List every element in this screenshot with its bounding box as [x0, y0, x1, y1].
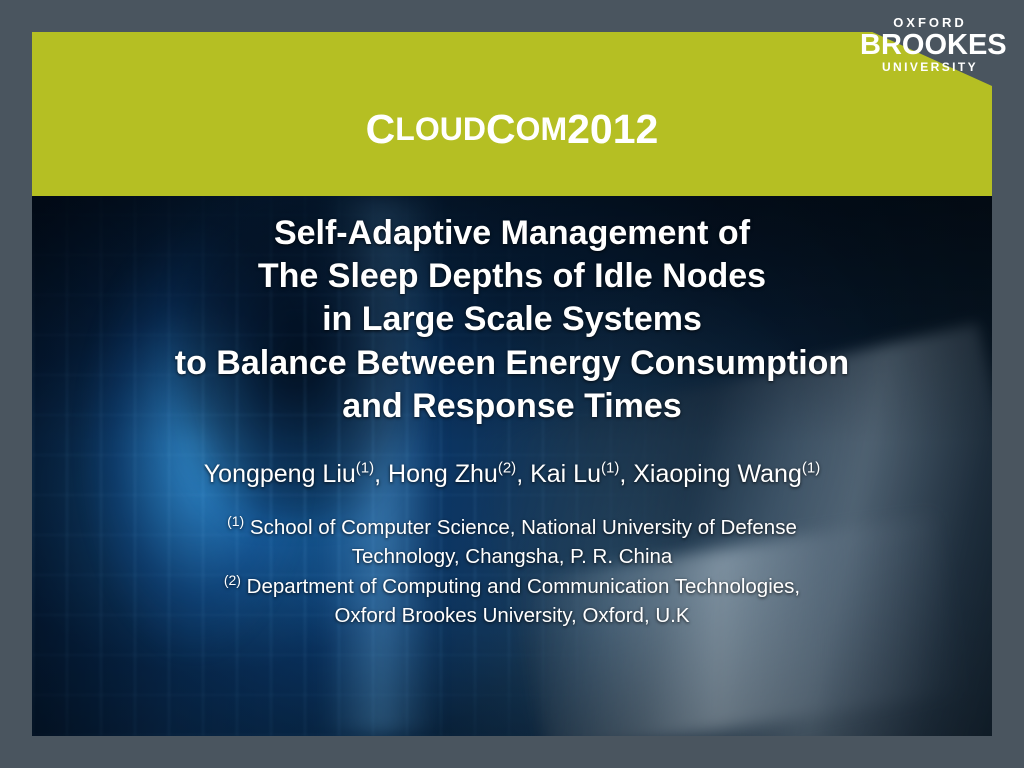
affiliation-2-marker: (2) [224, 572, 241, 588]
conference-title: CLOUDCOM 2012 [32, 32, 992, 196]
affiliation-list: (1) School of Computer Science, National… [32, 512, 992, 630]
slide: OXFORD BROOKES UNIVERSITY CLOUDCOM 2012 … [0, 0, 1024, 768]
presentation-title: Self-Adaptive Management of The Sleep De… [32, 212, 992, 428]
author-list: Yongpeng Liu(1), Hong Zhu(2), Kai Lu(1),… [32, 458, 992, 491]
author-1-affil-marker: (1) [356, 460, 374, 477]
title-line-4: to Balance Between Energy Consumption [32, 342, 992, 385]
header-bar: CLOUDCOM 2012 [32, 32, 992, 196]
conference-title-com-rest: OM [516, 111, 568, 148]
logo-university-text: UNIVERSITY [860, 61, 1000, 73]
author-3-affil-marker: (1) [601, 460, 619, 477]
affiliation-2-line-2: Oxford Brookes University, Oxford, U.K [32, 601, 992, 630]
logo-brookes-text: BROOKES [860, 31, 1000, 60]
author-separator-1: , [374, 460, 388, 488]
affiliation-1-line-2: Technology, Changsha, P. R. China [32, 542, 992, 571]
title-line-3: in Large Scale Systems [32, 298, 992, 341]
affiliation-1-line-1: (1) School of Computer Science, National… [32, 512, 992, 542]
author-separator-2: , [516, 460, 530, 488]
logo-oxford-text: OXFORD [860, 16, 1000, 29]
title-line-2: The Sleep Depths of Idle Nodes [32, 255, 992, 298]
conference-title-year: 2012 [567, 106, 658, 153]
author-separator-3: , [619, 460, 633, 488]
affiliation-2-text-1: Department of Computing and Communicatio… [241, 575, 800, 598]
affiliation-1-marker: (1) [227, 513, 244, 529]
slide-content: Self-Adaptive Management of The Sleep De… [32, 196, 992, 736]
affiliation-2-line-1: (2) Department of Computing and Communic… [32, 571, 992, 601]
author-2-affil-marker: (2) [498, 460, 516, 477]
conference-title-com-cap: C [486, 106, 516, 153]
conference-title-cloud-rest: LOUD [395, 111, 486, 148]
author-2-name: Hong Zhu [388, 460, 498, 488]
oxford-brookes-logo: OXFORD BROOKES UNIVERSITY [860, 16, 1000, 73]
author-4-name: Xiaoping Wang [633, 460, 802, 488]
slide-body: Self-Adaptive Management of The Sleep De… [32, 196, 992, 736]
affiliation-1-text-1: School of Computer Science, National Uni… [244, 516, 797, 539]
author-4-affil-marker: (1) [802, 460, 820, 477]
conference-title-cloud-cap: C [366, 106, 396, 153]
author-3-name: Kai Lu [530, 460, 601, 488]
title-line-1: Self-Adaptive Management of [32, 212, 992, 255]
title-line-5: and Response Times [32, 385, 992, 428]
author-1-name: Yongpeng Liu [204, 460, 356, 488]
